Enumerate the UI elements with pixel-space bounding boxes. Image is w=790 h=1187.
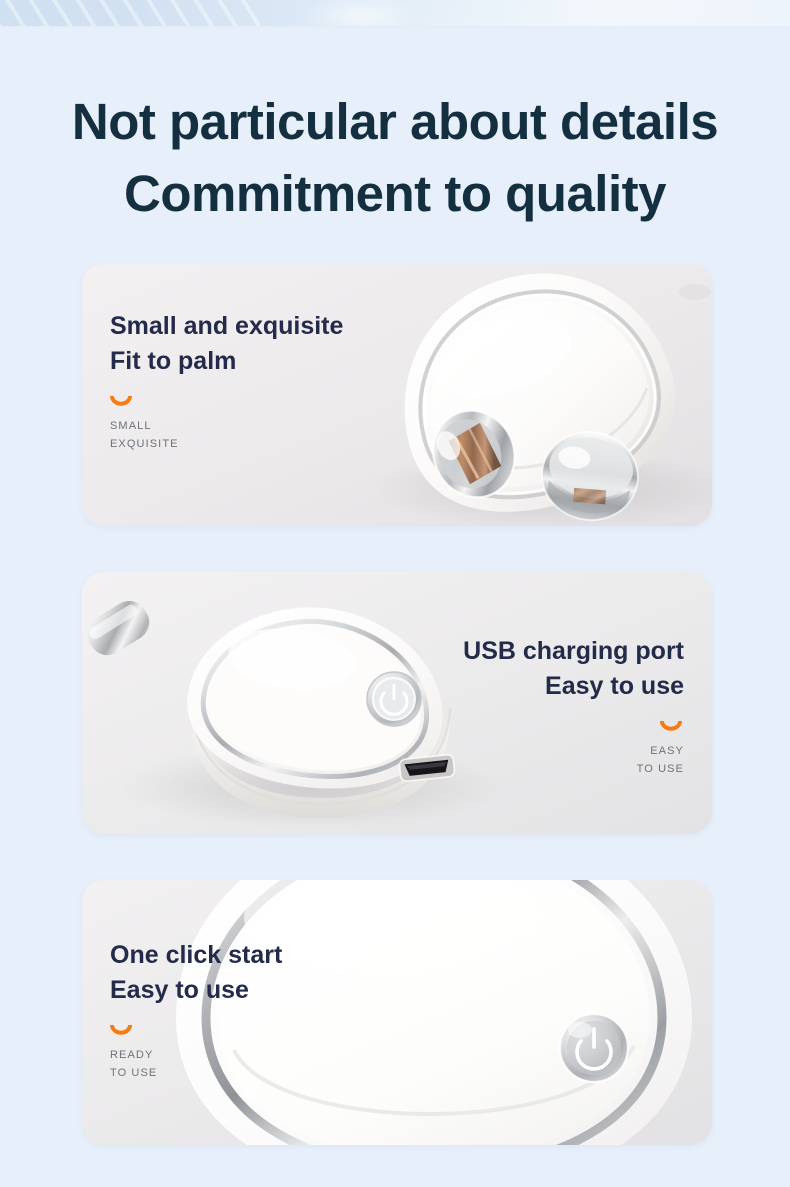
band-edge-divider [0,26,790,30]
feature-subtext-line-1: SMALL [110,417,343,435]
feature-title-line-2: Fit to palm [110,344,343,379]
headline-line-2: Commitment to quality [0,158,790,230]
feature-text-block: Small and exquisite Fit to palm SMALL EX… [110,309,343,453]
feature-subtext-line-2: TO USE [463,760,684,778]
feature-title-line-1: Small and exquisite [110,309,343,344]
feature-title-line-2: Easy to use [110,973,282,1008]
feature-title-line-1: USB charging port [463,634,684,669]
headline-line-1: Not particular about details [0,86,790,158]
feature-card-small-exquisite: Small and exquisite Fit to palm SMALL EX… [82,264,712,526]
feature-title: One click start Easy to use [110,938,282,1008]
feature-text-block: USB charging port Easy to use EASY TO US… [463,634,684,778]
product-feature-page: Not particular about details Commitment … [0,0,790,1187]
feature-subtext: EASY TO USE [463,742,684,778]
feature-title: Small and exquisite Fit to palm [110,309,343,379]
top-decorative-band [0,0,790,26]
feature-subtext-line-2: TO USE [110,1064,282,1082]
glow-decoration [300,0,420,26]
feature-subtext: SMALL EXQUISITE [110,417,343,453]
feature-title: USB charging port Easy to use [463,634,684,704]
feature-subtext: READY TO USE [110,1046,282,1082]
feature-subtext-line-1: EASY [463,742,684,760]
curve-accent-icon [110,1025,282,1037]
light-rays-decoration [0,0,260,26]
page-headline: Not particular about details Commitment … [0,86,790,231]
curve-accent-icon [463,721,684,733]
curve-accent-icon [110,396,343,408]
feature-card-usb-charging: USB charging port Easy to use EASY TO US… [82,572,712,834]
feature-subtext-line-1: READY [110,1046,282,1064]
feature-title-line-2: Easy to use [463,669,684,704]
feature-card-one-click-start: One click start Easy to use READY TO USE [82,880,712,1145]
feature-subtext-line-2: EXQUISITE [110,435,343,453]
feature-text-block: One click start Easy to use READY TO USE [110,938,282,1082]
feature-title-line-1: One click start [110,938,282,973]
